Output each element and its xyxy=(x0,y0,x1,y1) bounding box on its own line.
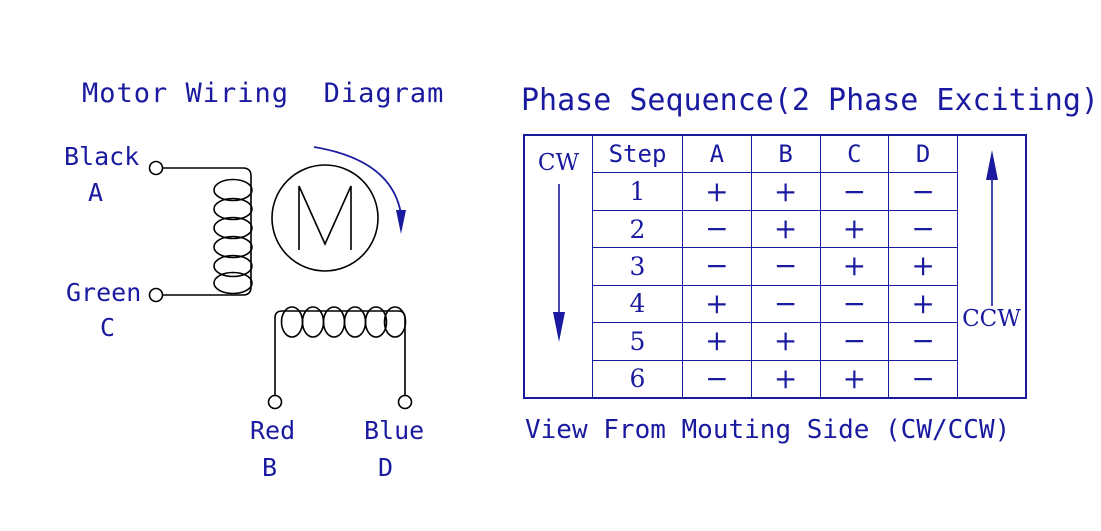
phase-a-value: − xyxy=(683,248,752,284)
phase-b-value: + xyxy=(752,361,821,397)
step-number: 4 xyxy=(593,286,683,322)
ccw-label: CCW xyxy=(958,306,1025,332)
column-header-step: Step xyxy=(593,136,683,172)
phase-b-value: + xyxy=(752,173,821,209)
table-row: 1 + + − − xyxy=(593,173,957,210)
terminal-node-red xyxy=(269,396,282,409)
table-header-row: Step A B C D xyxy=(593,136,957,173)
cw-label: CW xyxy=(525,150,592,176)
diagram-canvas: Motor Wiring Diagram Black A Green C Red… xyxy=(0,0,1101,531)
table-row: 5 + + − − xyxy=(593,323,957,360)
phase-sequence-grid: Step A B C D 1 + + − − 2 − + + − 3 xyxy=(593,136,957,397)
phase-d-value: − xyxy=(889,211,957,247)
phase-c-value: + xyxy=(821,211,890,247)
phase-a-value: + xyxy=(683,286,752,322)
phase-a-value: − xyxy=(683,361,752,397)
ccw-direction-column: CCW xyxy=(957,136,1025,397)
phase-c-value: + xyxy=(821,361,890,397)
step-number: 2 xyxy=(593,211,683,247)
column-header-b: B xyxy=(752,136,821,172)
phase-d-value: + xyxy=(889,286,957,322)
phase-a-value: + xyxy=(683,323,752,359)
terminal-node-black xyxy=(150,162,163,175)
phase-a-value: + xyxy=(683,173,752,209)
phase-sequence-table: CW Step A B C D 1 + + − − 2 xyxy=(523,134,1027,399)
column-header-a: A xyxy=(683,136,752,172)
phase-c-value: − xyxy=(821,323,890,359)
phase-sequence-title: Phase Sequence(2 Phase Exciting) xyxy=(521,86,1099,116)
phase-c-value: − xyxy=(821,286,890,322)
cw-rotation-arrow xyxy=(314,147,406,234)
table-row: 2 − + + − xyxy=(593,211,957,248)
terminal-label-black: Black xyxy=(64,144,139,169)
table-row: 4 + − − + xyxy=(593,286,957,323)
terminal-phase-d: D xyxy=(378,455,393,480)
step-number: 1 xyxy=(593,173,683,209)
phase-a-value: − xyxy=(683,211,752,247)
phase-d-value: − xyxy=(889,173,957,209)
terminal-label-blue: Blue xyxy=(364,418,424,443)
phase-b-value: − xyxy=(752,286,821,322)
terminal-node-green xyxy=(150,289,163,302)
step-number: 3 xyxy=(593,248,683,284)
motor-body xyxy=(272,165,378,271)
terminal-phase-c: C xyxy=(100,315,115,340)
phase-b-value: + xyxy=(752,211,821,247)
cw-direction-column: CW xyxy=(525,136,593,397)
phase-b-value: − xyxy=(752,248,821,284)
terminal-node-blue xyxy=(399,396,412,409)
table-row: 3 − − + + xyxy=(593,248,957,285)
column-header-d: D xyxy=(889,136,957,172)
terminal-label-red: Red xyxy=(250,418,295,443)
step-number: 5 xyxy=(593,323,683,359)
terminal-label-green: Green xyxy=(66,280,141,305)
phase-d-value: − xyxy=(889,361,957,397)
terminal-phase-a: A xyxy=(88,180,103,205)
step-number: 6 xyxy=(593,361,683,397)
phase-b-value: + xyxy=(752,323,821,359)
ccw-up-arrow-icon xyxy=(958,136,1026,397)
terminal-phase-b: B xyxy=(262,455,277,480)
column-header-c: C xyxy=(821,136,890,172)
phase-d-value: − xyxy=(889,323,957,359)
wiring-diagram-title: Motor Wiring Diagram xyxy=(82,80,444,107)
phase-c-value: + xyxy=(821,248,890,284)
phase-sequence-caption: View From Mouting Side (CW/CCW) xyxy=(525,417,1010,443)
phase-c-value: − xyxy=(821,173,890,209)
table-row: 6 − + + − xyxy=(593,361,957,397)
phase-d-value: + xyxy=(889,248,957,284)
